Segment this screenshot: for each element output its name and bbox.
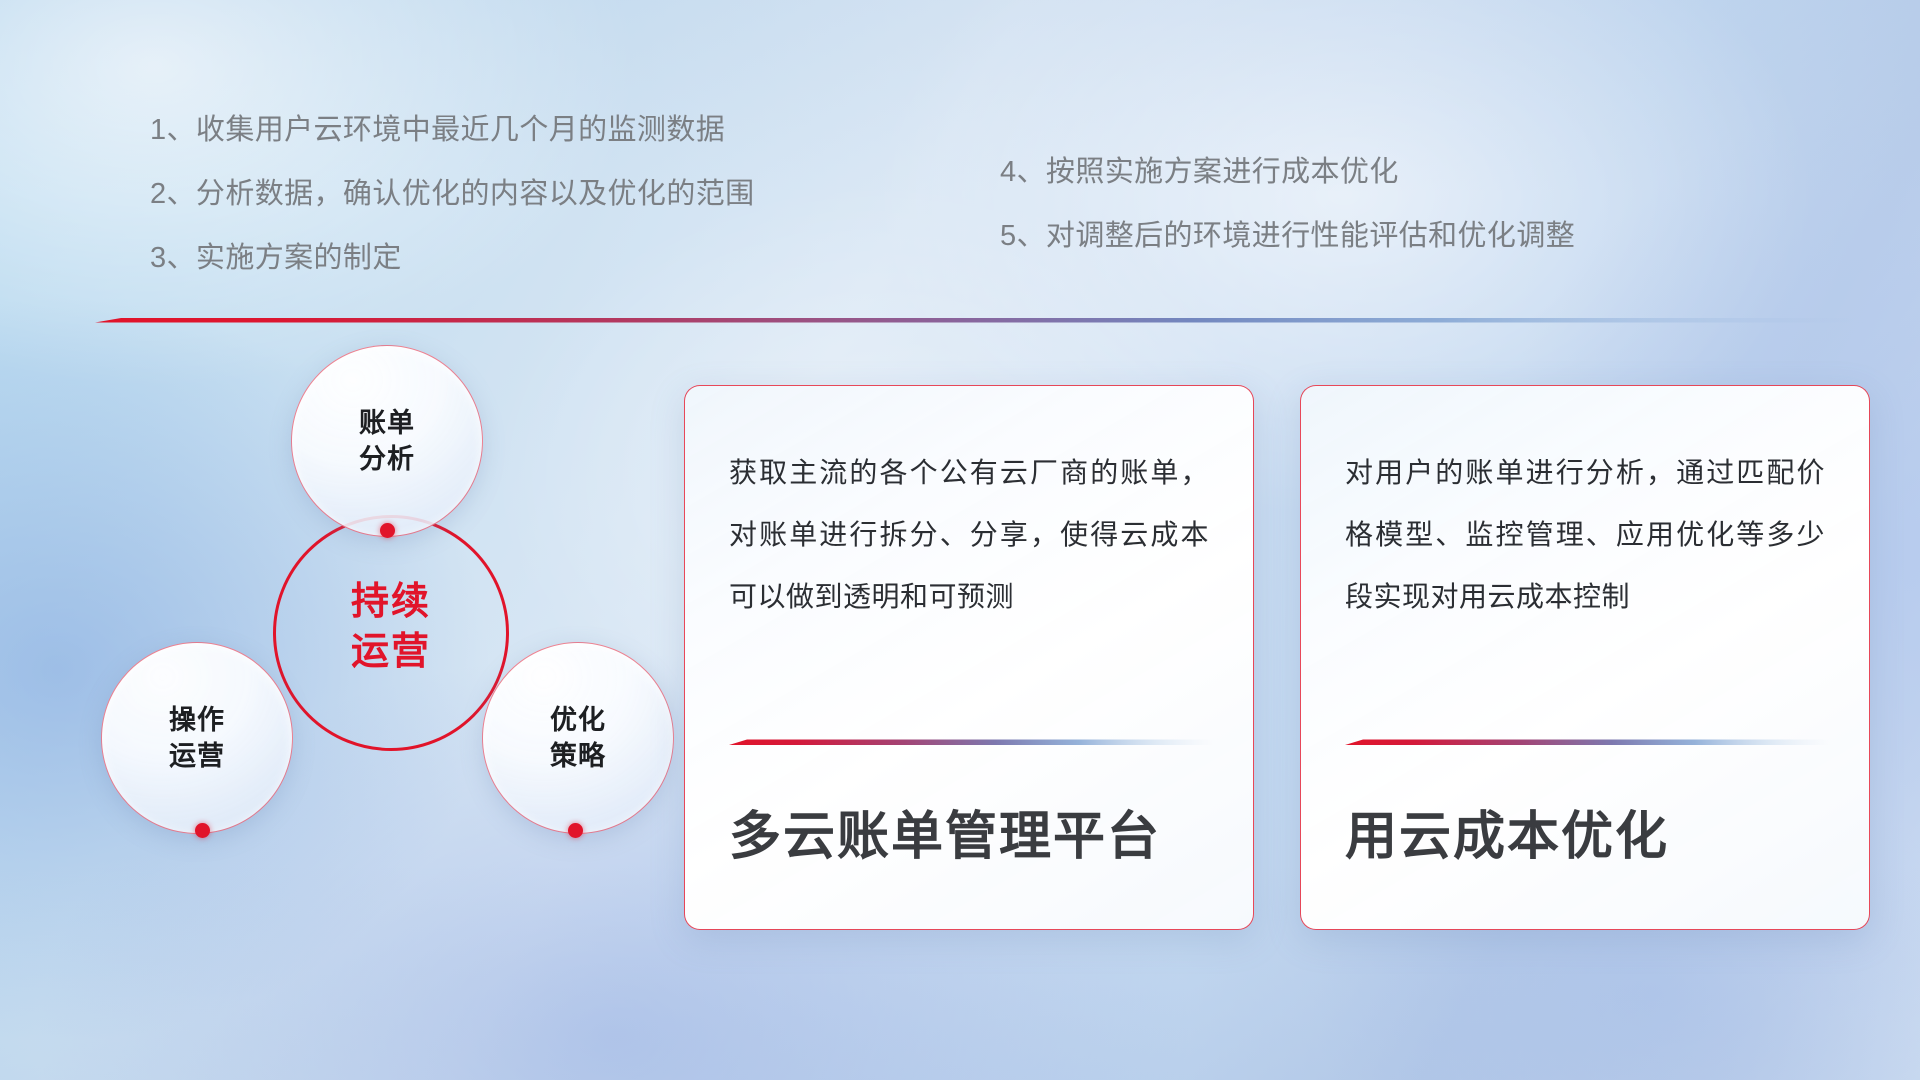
continuous-operation-diagram: 账单 分析 操作 运营 优化 策略 持续 运营 <box>95 345 655 945</box>
bullet-item: 3、实施方案的制定 <box>150 226 755 290</box>
diagram-node-dot-bottom-left <box>195 823 210 838</box>
bullet-item: 4、按照实施方案进行成本优化 <box>1000 140 1575 204</box>
diagram-center-label: 持续 运营 <box>273 577 509 677</box>
card-accent-rule-icon <box>1345 738 1831 746</box>
card-accent-rule <box>729 733 1215 741</box>
bullet-item: 2、分析数据，确认优化的内容以及优化的范围 <box>150 162 755 226</box>
diagram-node-label: 优化 策略 <box>550 702 606 774</box>
diagram-node-label: 操作 运营 <box>169 702 225 774</box>
bullet-item: 1、收集用户云环境中最近几个月的监测数据 <box>150 98 755 162</box>
bullet-list-right: 4、按照实施方案进行成本优化 5、对调整后的环境进行性能评估和优化调整 <box>1000 140 1575 268</box>
divider-rule-icon <box>95 315 1865 325</box>
section-divider <box>95 312 1865 322</box>
diagram-node-dot-top <box>380 523 395 538</box>
card-description: 获取主流的各个公有云厂商的账单，对账单进行拆分、分享，使得云成本可以做到透明和可… <box>729 442 1209 628</box>
card-description: 对用户的账单进行分析，通过匹配价格模型、监控管理、应用优化等多少段实现对用云成本… <box>1345 442 1825 628</box>
feature-card-multicloud-billing[interactable]: 获取主流的各个公有云厂商的账单，对账单进行拆分、分享，使得云成本可以做到透明和可… <box>684 385 1254 930</box>
card-accent-rule <box>1345 733 1831 741</box>
diagram-node-bill-analysis[interactable]: 账单 分析 <box>291 345 483 537</box>
diagram-node-label: 账单 分析 <box>359 405 415 477</box>
slide-root: 1、收集用户云环境中最近几个月的监测数据 2、分析数据，确认优化的内容以及优化的… <box>0 0 1920 1080</box>
card-title: 多云账单管理平台 <box>729 794 1161 869</box>
diagram-node-dot-bottom-right <box>568 823 583 838</box>
card-accent-rule-icon <box>729 738 1215 746</box>
diagram-node-optimization-strategy[interactable]: 优化 策略 <box>482 642 674 834</box>
bullet-item: 5、对调整后的环境进行性能评估和优化调整 <box>1000 204 1575 268</box>
card-title: 用云成本优化 <box>1345 794 1669 869</box>
diagram-node-operations[interactable]: 操作 运营 <box>101 642 293 834</box>
feature-card-cloud-cost-optimization[interactable]: 对用户的账单进行分析，通过匹配价格模型、监控管理、应用优化等多少段实现对用云成本… <box>1300 385 1870 930</box>
bullet-list-left: 1、收集用户云环境中最近几个月的监测数据 2、分析数据，确认优化的内容以及优化的… <box>150 98 755 290</box>
